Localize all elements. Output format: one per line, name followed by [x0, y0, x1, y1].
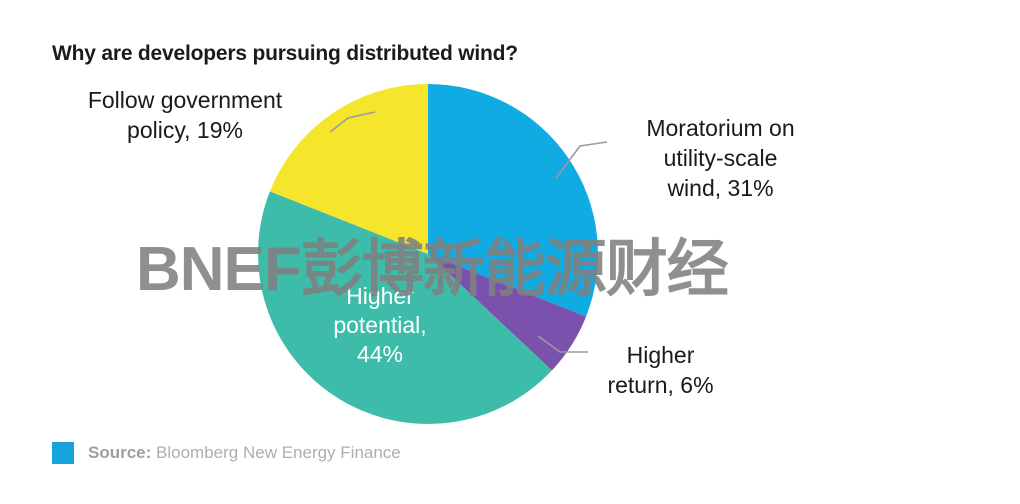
slice-callout-higher-return: Higher return, 6%	[573, 340, 748, 400]
slice-callout-follow-policy: Follow government policy, 19%	[45, 85, 325, 145]
watermark-bnef: BNEF彭博新能源财经	[136, 218, 728, 308]
source-text: Source: Bloomberg New Energy Finance	[88, 443, 401, 463]
chart-canvas: Why are developers pursuing distributed …	[0, 0, 1020, 504]
slice-callout-moratorium: Moratorium on utility-scale wind, 31%	[613, 113, 828, 203]
source-label: Source:	[88, 443, 151, 462]
source-value: Bloomberg New Energy Finance	[156, 443, 401, 462]
source-color-swatch	[52, 442, 74, 464]
source-row: Source: Bloomberg New Energy Finance	[52, 442, 401, 464]
page-title: Why are developers pursuing distributed …	[52, 42, 518, 66]
